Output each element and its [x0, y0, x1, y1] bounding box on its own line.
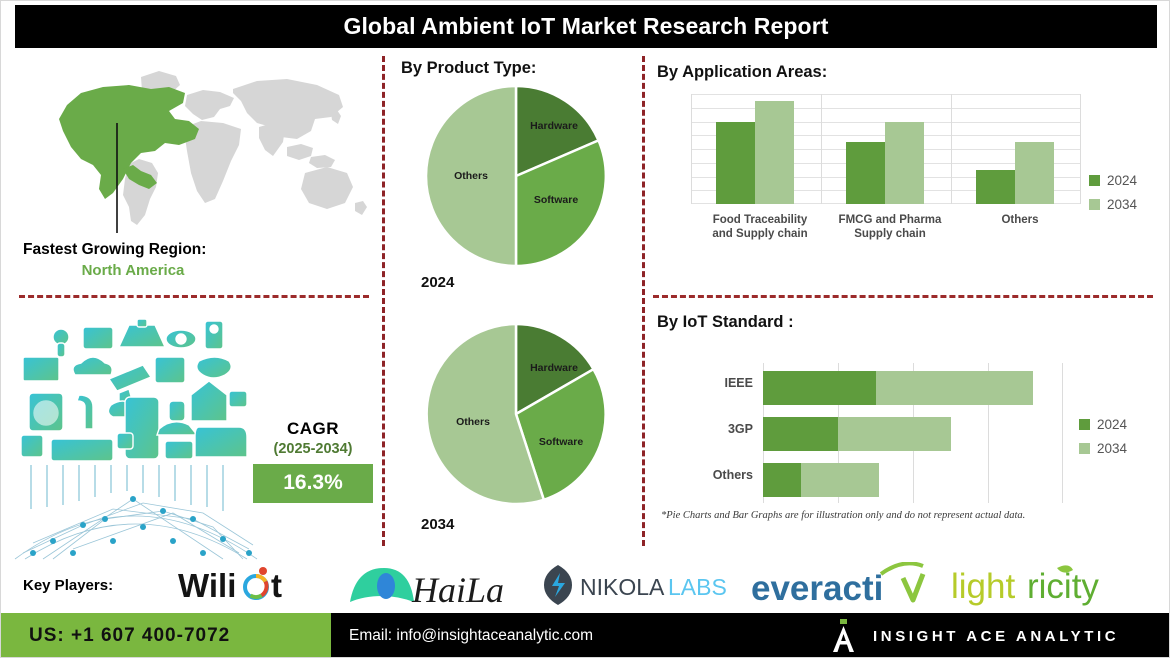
svg-text:Wili: Wili [178, 567, 236, 604]
logo-nikola-labs: NIKOLA LABS [528, 557, 743, 613]
legend-item-2034: 2034 [1089, 197, 1137, 212]
bar-2034-food-traceability [755, 101, 794, 204]
svg-text:LABS: LABS [668, 574, 727, 600]
key-players-row: Key Players: Wili t HaiLa [1, 557, 1170, 613]
pie-slice-label-others: Others [456, 416, 490, 428]
page-header: Global Ambient IoT Market Research Repor… [15, 5, 1157, 48]
row-label-3gp: 3GP [681, 422, 753, 436]
fastest-growing-region: Fastest Growing Region: North America [23, 241, 363, 279]
logo-everactiv: everacti [743, 557, 943, 613]
legend-iot-standard-chart: 2024 2034 [1079, 417, 1127, 465]
logo-haila: HaiLa [333, 557, 528, 613]
region-value: North America [23, 262, 363, 279]
pie-chart-2024: Hardware Software Others [423, 83, 609, 269]
category-label-fmcg-pharma: FMCG and PharmaSupply chain [826, 213, 954, 241]
pie-year-2024: 2024 [421, 274, 454, 291]
key-players-label: Key Players: [23, 577, 153, 594]
pie-chart-2034: Hardware Software Others [423, 321, 609, 507]
cagr-years: (2025-2034) [253, 441, 373, 457]
legend-item-2024: 2024 [1079, 417, 1127, 432]
footer-phone[interactable]: US: +1 607 400-7072 [1, 613, 331, 658]
legend-label-2024: 2024 [1097, 417, 1127, 432]
cagr-block: CAGR (2025-2034) 16.3% [253, 419, 373, 503]
category-label-food-traceability: Food Traceabilityand Supply chain [696, 213, 824, 241]
logo-lightricity: light ricity [943, 557, 1143, 613]
page-title: Global Ambient IoT Market Research Repor… [343, 13, 828, 40]
footer-email[interactable]: Email: info@insightaceanalytic.com [331, 627, 593, 645]
svg-text:t: t [271, 567, 282, 604]
brand-logo-block: INSIGHT ACE ANALYTIC [831, 619, 1119, 653]
world-map [19, 61, 369, 236]
insightace-a-icon [831, 619, 857, 653]
legend-swatch-2024 [1089, 175, 1100, 186]
pie-slice-label-software: Software [534, 194, 579, 206]
hbar-2024-others [763, 463, 801, 497]
cagr-value: 16.3% [253, 464, 373, 503]
legend-swatch-2034 [1079, 443, 1090, 454]
legend-label-2034: 2034 [1097, 441, 1127, 456]
legend-label-2024: 2024 [1107, 173, 1137, 188]
bar-2024-food-traceability [716, 122, 755, 205]
infographic-page: Global Ambient IoT Market Research Repor… [0, 0, 1170, 658]
category-label-others: Others [956, 213, 1084, 227]
hbar-2034-others [801, 463, 880, 497]
application-areas-chart [691, 94, 1081, 204]
legend-swatch-2034 [1089, 199, 1100, 210]
hbar-2024-3gp [763, 417, 838, 451]
svg-text:light: light [951, 567, 1015, 606]
brand-name: INSIGHT ACE ANALYTIC [873, 628, 1119, 645]
logo-wiliot: Wili t [153, 557, 333, 613]
pie-year-2034: 2034 [421, 516, 454, 533]
page-footer: US: +1 607 400-7072 Email: info@insighta… [1, 613, 1170, 658]
hbar-2034-ieee [876, 371, 1034, 405]
bar-2034-fmcg-pharma [885, 122, 924, 205]
divider-horizontal-left [19, 295, 369, 298]
row-label-ieee: IEEE [681, 376, 753, 390]
pie-slice-label-others: Others [454, 170, 488, 182]
hbar-2034-3gp [838, 417, 951, 451]
chart-footnote: *Pie Charts and Bar Graphs are for illus… [661, 510, 1025, 521]
bar-2024-fmcg-pharma [846, 142, 885, 204]
footer-contact-bar: Email: info@insightaceanalytic.com INSIG… [331, 613, 1170, 658]
legend-item-2024: 2024 [1089, 173, 1137, 188]
legend-application-chart: 2024 2034 [1089, 173, 1137, 221]
divider-vertical-right [642, 56, 645, 546]
svg-text:ricity: ricity [1027, 567, 1099, 606]
legend-swatch-2024 [1079, 419, 1090, 430]
svg-text:NIKOLA: NIKOLA [580, 574, 665, 600]
pie-slice-label-hardware: Hardware [530, 120, 578, 132]
row-label-others: Others [681, 468, 753, 482]
iot-standard-title: By IoT Standard : [657, 313, 794, 332]
iot-devices-illustration [13, 313, 259, 561]
divider-horizontal-right [653, 295, 1153, 298]
application-areas-title: By Application Areas: [657, 63, 827, 82]
legend-item-2034: 2034 [1079, 441, 1127, 456]
bar-2034-others [1015, 142, 1054, 204]
region-label: Fastest Growing Region: [23, 241, 363, 259]
pie-slice-label-software: Software [539, 436, 584, 448]
svg-text:HaiLa: HaiLa [411, 570, 504, 608]
product-type-title: By Product Type: [401, 59, 536, 78]
legend-label-2034: 2034 [1107, 197, 1137, 212]
svg-text:everacti: everacti [751, 569, 883, 608]
divider-vertical-left [382, 56, 385, 546]
iot-standard-chart [763, 363, 1063, 503]
cagr-title: CAGR [253, 419, 373, 439]
bar-2024-others [976, 170, 1015, 204]
pie-slice-label-hardware: Hardware [530, 362, 578, 374]
hbar-2024-ieee [763, 371, 876, 405]
